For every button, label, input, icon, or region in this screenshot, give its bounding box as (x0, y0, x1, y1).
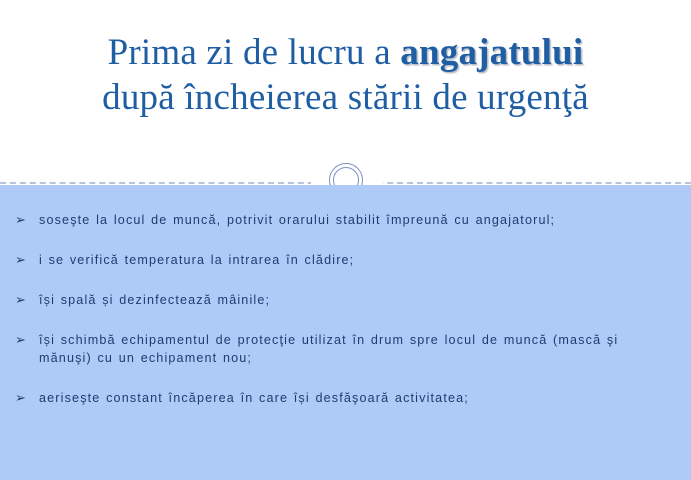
list-item: ➢ soseşte la locul de muncă, potrivit or… (0, 211, 691, 229)
bullet-list: ➢ soseşte la locul de muncă, potrivit or… (0, 211, 691, 429)
arrow-bullet-icon: ➢ (15, 331, 26, 349)
arrow-bullet-icon: ➢ (15, 251, 26, 269)
arrow-bullet-icon: ➢ (15, 291, 26, 309)
arrow-bullet-icon: ➢ (15, 211, 26, 229)
list-item: ➢ își spală și dezinfectează mâinile; (0, 291, 691, 309)
list-item-text: soseşte la locul de muncă, potrivit orar… (39, 211, 631, 229)
arrow-bullet-icon: ➢ (15, 389, 26, 407)
list-item: ➢ i se verifică temperatura la intrarea … (0, 251, 691, 269)
content-panel: ➢ soseşte la locul de muncă, potrivit or… (0, 185, 691, 480)
title-line-2: după încheierea stării de urgenţă (0, 75, 691, 120)
title-line-1-prefix: Prima zi de lucru a (108, 32, 401, 73)
list-item-text: i se verifică temperatura la intrarea în… (39, 251, 631, 269)
slide: Prima zi de lucru a angajatului după înc… (0, 0, 691, 480)
title-line-1: Prima zi de lucru a angajatului (0, 30, 691, 75)
list-item-text: își spală și dezinfectează mâinile; (39, 291, 631, 309)
list-item: ➢ aeriseşte constant încăperea în care î… (0, 389, 691, 407)
title-emphasis: angajatului (400, 32, 583, 73)
list-item: ➢ își schimbă echipamentul de protecţie … (0, 331, 691, 367)
list-item-text: își schimbă echipamentul de protecţie ut… (39, 331, 631, 367)
list-item-text: aeriseşte constant încăperea în care își… (39, 389, 631, 407)
page-title: Prima zi de lucru a angajatului după înc… (0, 30, 691, 120)
